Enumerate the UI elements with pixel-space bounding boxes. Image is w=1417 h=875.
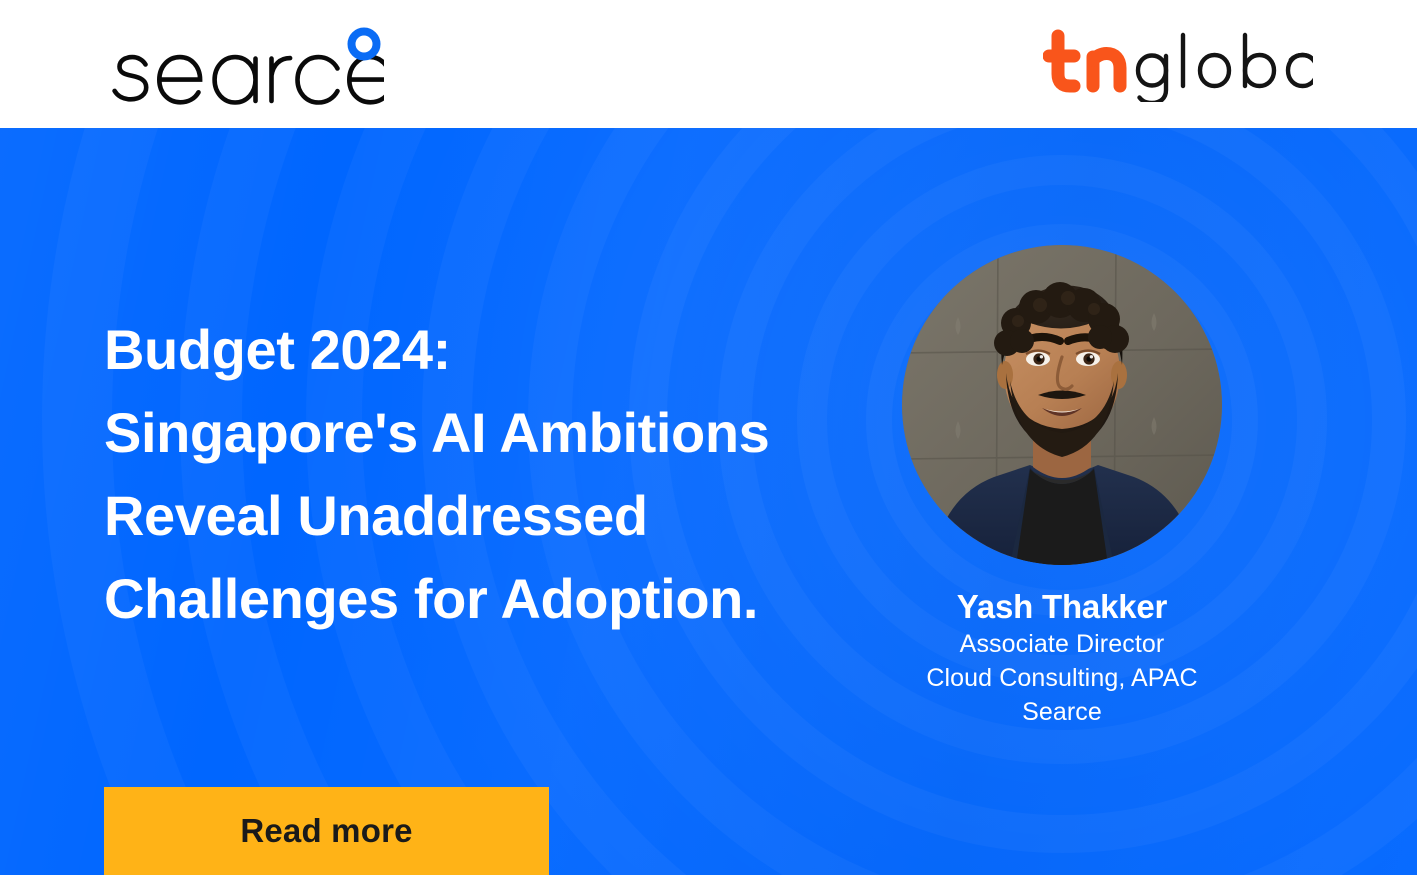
page-title: Budget 2024: Singapore's AI Ambitions Re… (104, 308, 864, 640)
hero-stage: Budget 2024: Singapore's AI Ambitions Re… (0, 128, 1417, 875)
avatar (902, 245, 1222, 565)
speaker-title: Associate Director (852, 627, 1272, 661)
speaker-department: Cloud Consulting, APAC (852, 661, 1272, 695)
read-more-button[interactable]: Read more (104, 787, 549, 875)
searce-logo[interactable] (104, 22, 384, 106)
speaker-card: Yash Thakker Associate Director Cloud Co… (852, 245, 1272, 729)
headline-line-1: Budget 2024: (104, 308, 864, 391)
promo-banner: Budget 2024: Singapore's AI Ambitions Re… (0, 0, 1417, 875)
degree-circle-icon (352, 32, 377, 57)
headline-line-2: Singapore's AI Ambitions (104, 391, 864, 474)
tnglobal-logo[interactable] (1043, 26, 1313, 102)
headline-line-3: Reveal Unaddressed (104, 474, 864, 557)
speaker-name: Yash Thakker (852, 587, 1272, 627)
speaker-company: Searce (852, 695, 1272, 729)
headline-line-4: Challenges for Adoption. (104, 557, 864, 640)
header-bar (0, 0, 1417, 128)
